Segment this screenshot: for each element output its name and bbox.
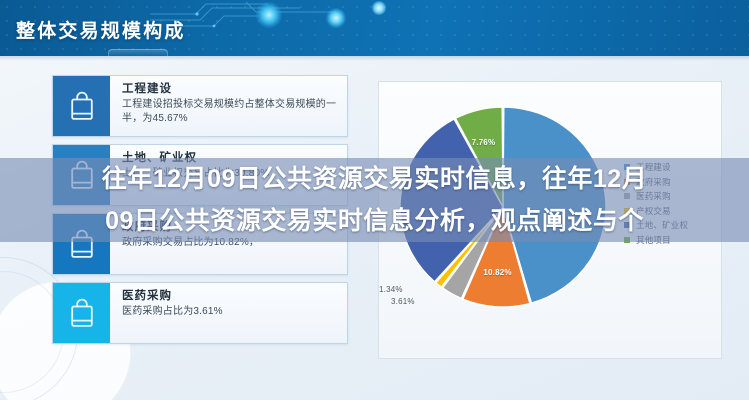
header-glow-dot-1 — [256, 2, 282, 28]
pie-label-2: 3.61% — [391, 297, 415, 306]
caption-line-1: 往年12月09日公共资源交易实时信息，往年12月 — [0, 158, 749, 200]
header-glow-dot-2 — [326, 8, 346, 28]
caption-line-2: 09日公共资源交易实时信息分析，观点阐述与个 — [0, 200, 749, 242]
card-icon-tile — [53, 283, 110, 343]
card-body: 工程建设 工程建设招投标交易规模约占整体交易规模的一半，为45.67% — [110, 76, 347, 136]
card-title: 医药采购 — [122, 289, 339, 304]
card-body: 医药采购 医药采购占比为3.61% — [110, 283, 347, 343]
card-description: 医药采购占比为3.61% — [122, 305, 339, 319]
card-icon-tile — [53, 76, 110, 136]
pie-label-3: 1.34% — [379, 285, 403, 294]
category-card-engineering[interactable]: 工程建设 工程建设招投标交易规模约占整体交易规模的一半，为45.67% — [52, 75, 348, 137]
pie-label-5: 7.76% — [472, 138, 496, 147]
card-title: 工程建设 — [122, 82, 339, 97]
shopping-bag-icon — [68, 298, 96, 329]
shopping-bag-icon — [68, 91, 96, 122]
card-description: 工程建设招投标交易规模约占整体交易规模的一半，为45.67% — [122, 98, 339, 125]
category-card-medicine-procurement[interactable]: 医药采购 医药采购占比为3.61% — [52, 282, 348, 344]
page-title: 整体交易规模构成 — [16, 16, 186, 43]
pie-label-1: 10.82% — [483, 268, 511, 277]
page-header: 整体交易规模构成 — [0, 0, 749, 56]
screenshot-root: 整体交易规模构成 工程建设 工程建设招投标交易规模约占整体交易规模的一半，为45… — [0, 0, 749, 400]
header-glow-dot-3 — [372, 1, 386, 15]
header-notch — [108, 49, 168, 56]
